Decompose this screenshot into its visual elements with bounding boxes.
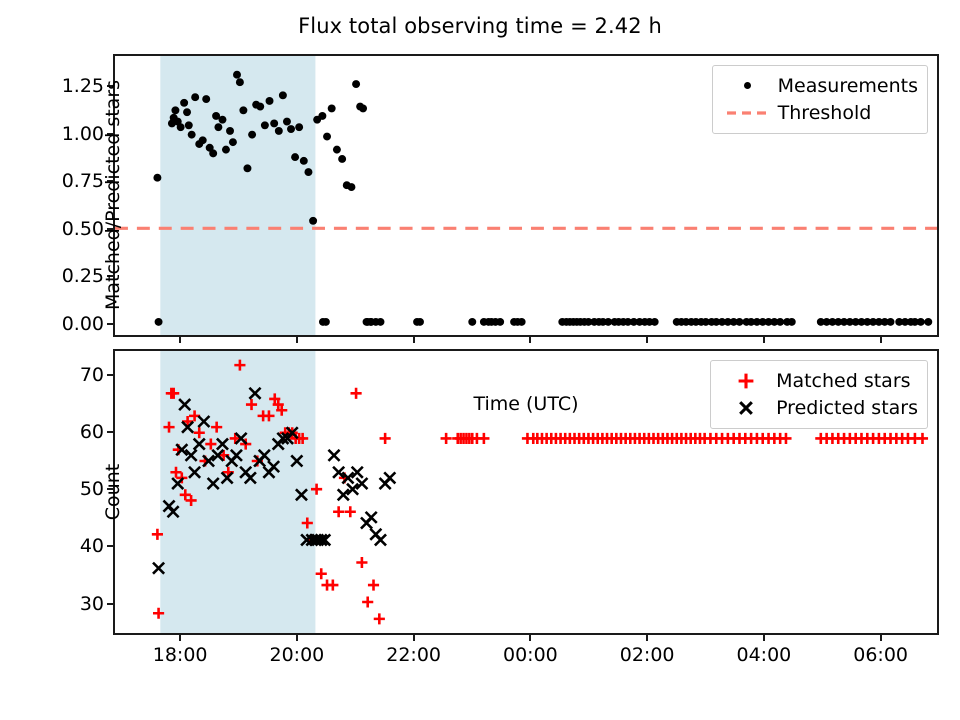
ytick-mark bbox=[107, 323, 113, 325]
legend-item-matched-stars[interactable]: Matched stars bbox=[720, 367, 918, 394]
ytick-label: 40 bbox=[80, 535, 104, 557]
top-panel-legend: Measurements Threshold bbox=[712, 65, 928, 134]
legend-item-predicted-stars[interactable]: Predicted stars bbox=[720, 394, 918, 421]
xtick-mark bbox=[179, 337, 181, 343]
xtick-mark bbox=[529, 337, 531, 343]
xtick-mark bbox=[880, 635, 882, 641]
xtick-mark bbox=[880, 337, 882, 343]
ytick-mark bbox=[107, 431, 113, 433]
ytick-mark bbox=[107, 488, 113, 490]
ytick-label: 0.75 bbox=[62, 170, 104, 192]
ytick-label: 30 bbox=[80, 593, 104, 615]
legend-label-matched-stars: Matched stars bbox=[772, 370, 910, 392]
ytick-mark bbox=[107, 85, 113, 87]
legend-item-measurements[interactable]: Measurements bbox=[722, 72, 918, 99]
ytick-mark bbox=[107, 228, 113, 230]
legend-item-threshold[interactable]: Threshold bbox=[722, 99, 918, 126]
xtick-mark bbox=[646, 635, 648, 641]
xtick-label: 22:00 bbox=[386, 644, 441, 666]
xtick-label: 06:00 bbox=[853, 644, 908, 666]
legend-label-measurements: Measurements bbox=[774, 75, 918, 97]
figure-canvas: Flux total observing time = 2.42 h Measu… bbox=[0, 0, 960, 720]
threshold-dashed-line-icon bbox=[722, 108, 774, 118]
ytick-mark bbox=[107, 545, 113, 547]
ytick-label: 0.50 bbox=[62, 218, 104, 240]
ytick-label: 1.00 bbox=[62, 123, 104, 145]
figure-title: Flux total observing time = 2.42 h bbox=[0, 14, 960, 38]
ytick-mark bbox=[107, 603, 113, 605]
xtick-mark bbox=[413, 337, 415, 343]
xtick-mark bbox=[296, 337, 298, 343]
ytick-label: 0.25 bbox=[62, 265, 104, 287]
ytick-label: 50 bbox=[80, 478, 104, 500]
ytick-mark bbox=[107, 180, 113, 182]
legend-label-predicted-stars: Predicted stars bbox=[772, 397, 918, 419]
plus-marker-icon bbox=[720, 371, 772, 391]
ytick-label: 1.25 bbox=[62, 75, 104, 97]
xtick-label: 02:00 bbox=[620, 644, 675, 666]
xtick-mark bbox=[763, 635, 765, 641]
xtick-label: 00:00 bbox=[503, 644, 558, 666]
ytick-mark bbox=[107, 374, 113, 376]
legend-label-threshold: Threshold bbox=[774, 102, 872, 124]
bottom-panel-legend: Matched stars Predicted stars bbox=[710, 360, 928, 429]
ytick-label: 60 bbox=[80, 421, 104, 443]
xtick-mark bbox=[529, 635, 531, 641]
xtick-mark bbox=[296, 635, 298, 641]
xtick-label: 04:00 bbox=[736, 644, 791, 666]
xtick-label: 18:00 bbox=[153, 644, 208, 666]
ytick-label: 0.00 bbox=[62, 313, 104, 335]
xtick-mark bbox=[179, 635, 181, 641]
ytick-mark bbox=[107, 133, 113, 135]
cross-marker-icon bbox=[720, 398, 772, 418]
xtick-mark bbox=[413, 635, 415, 641]
xtick-mark bbox=[763, 337, 765, 343]
ytick-label: 70 bbox=[80, 364, 104, 386]
xtick-label: 20:00 bbox=[269, 644, 324, 666]
xtick-mark bbox=[646, 337, 648, 343]
ytick-mark bbox=[107, 275, 113, 277]
measurements-dot-icon bbox=[722, 82, 774, 89]
